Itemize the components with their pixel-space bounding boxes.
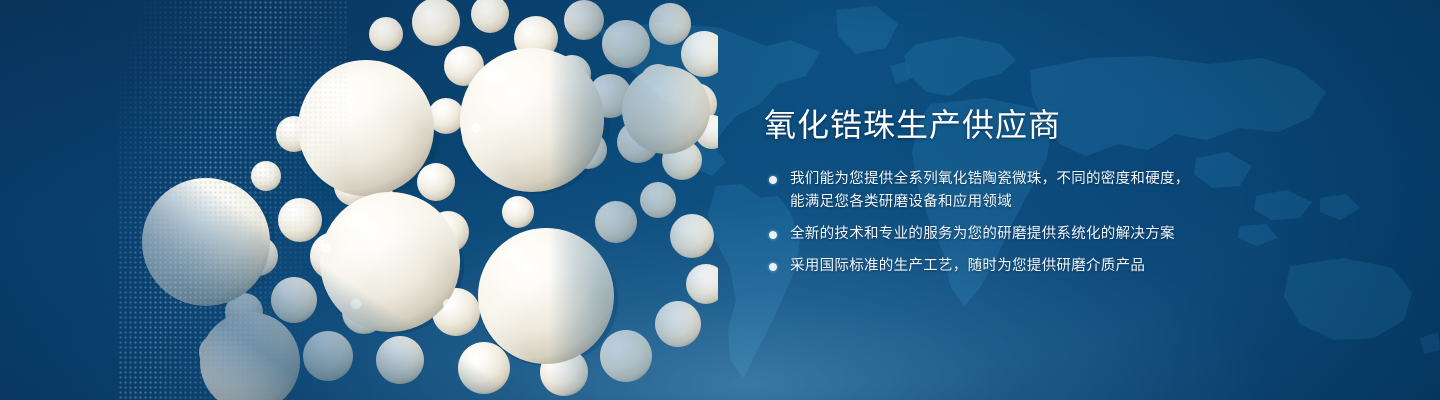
product-banner: 氧化锆珠生产供应商 我们能为您提供全系列氧化锆陶瓷微珠，不同的密度和硬度， 能满… (0, 0, 1440, 400)
bullet-dot-icon (769, 231, 777, 239)
bullet-item-3: 采用国际标准的生产工艺，随时为您提供研磨介质产品 (764, 255, 1324, 278)
bullet-1-line-1: 我们能为您提供全系列氧化锆陶瓷微珠，不同的密度和硬度， (790, 168, 1324, 191)
bullet-2-line-1: 全新的技术和专业的服务为您的研磨提供系统化的解决方案 (790, 223, 1324, 246)
banner-headline: 氧化锆珠生产供应商 (764, 104, 1324, 146)
bullet-item-2: 全新的技术和专业的服务为您的研磨提供系统化的解决方案 (764, 223, 1324, 246)
bullet-item-1: 我们能为您提供全系列氧化锆陶瓷微珠，不同的密度和硬度， 能满足您各类研磨设备和应… (764, 168, 1324, 214)
bullet-dot-icon (769, 176, 777, 184)
bullet-3-line-1: 采用国际标准的生产工艺，随时为您提供研磨介质产品 (790, 255, 1324, 278)
banner-bullet-list: 我们能为您提供全系列氧化锆陶瓷微珠，不同的密度和硬度， 能满足您各类研磨设备和应… (764, 168, 1324, 278)
bullet-dot-icon (769, 263, 777, 271)
zirconia-beads-photo (118, 0, 718, 400)
banner-copy: 氧化锆珠生产供应商 我们能为您提供全系列氧化锆陶瓷微珠，不同的密度和硬度， 能满… (764, 104, 1324, 278)
bullet-1-line-2: 能满足您各类研磨设备和应用领域 (790, 191, 1324, 214)
